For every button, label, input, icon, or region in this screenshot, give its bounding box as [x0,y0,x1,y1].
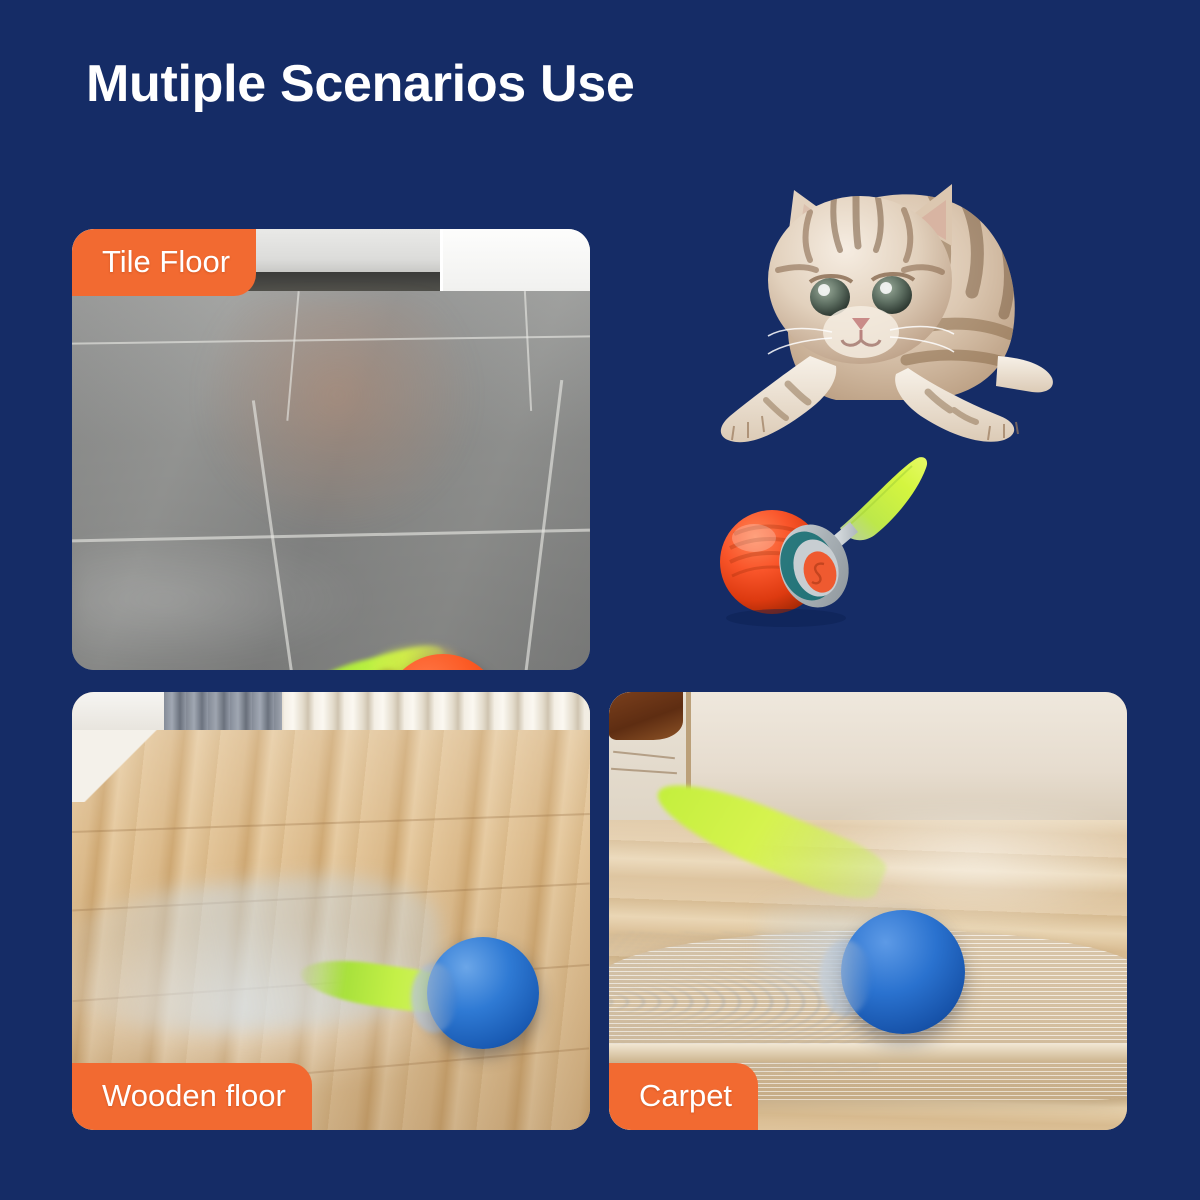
page-title: Mutiple Scenarios Use [86,56,635,113]
door-detail-line [611,768,677,775]
scenario-panel-carpet: Carpet [609,692,1127,1130]
wall-corner [72,730,182,802]
cat-rear-paw [996,356,1053,392]
badge-tile-floor: Tile Floor [72,229,256,296]
scenario-panel-wooden: Wooden floor [72,692,590,1130]
badge-carpet: Carpet [609,1063,758,1130]
rug-edge [609,1044,1127,1062]
scenario-panel-tile: Tile Floor [72,229,590,670]
pet-ball-blue [427,937,539,1049]
floor-reflection [192,299,482,539]
cat-eye-right [872,276,912,314]
pet-ball-toy [700,450,950,630]
badge-wooden-floor: Wooden floor [72,1063,312,1130]
pet-ball-blue [841,910,965,1034]
cat-front-leg-left [721,356,836,442]
door-detail-line [613,751,675,759]
hero-cat-illustration [660,160,1140,660]
floor-highlight [72,529,372,669]
kitten-image [660,160,1090,460]
plank-seam [72,813,590,833]
ball-highlight [732,524,776,552]
dark-wood-object [609,692,683,740]
eye-highlight [880,282,892,294]
eye-highlight [818,284,830,296]
ball-shadow [726,609,846,627]
